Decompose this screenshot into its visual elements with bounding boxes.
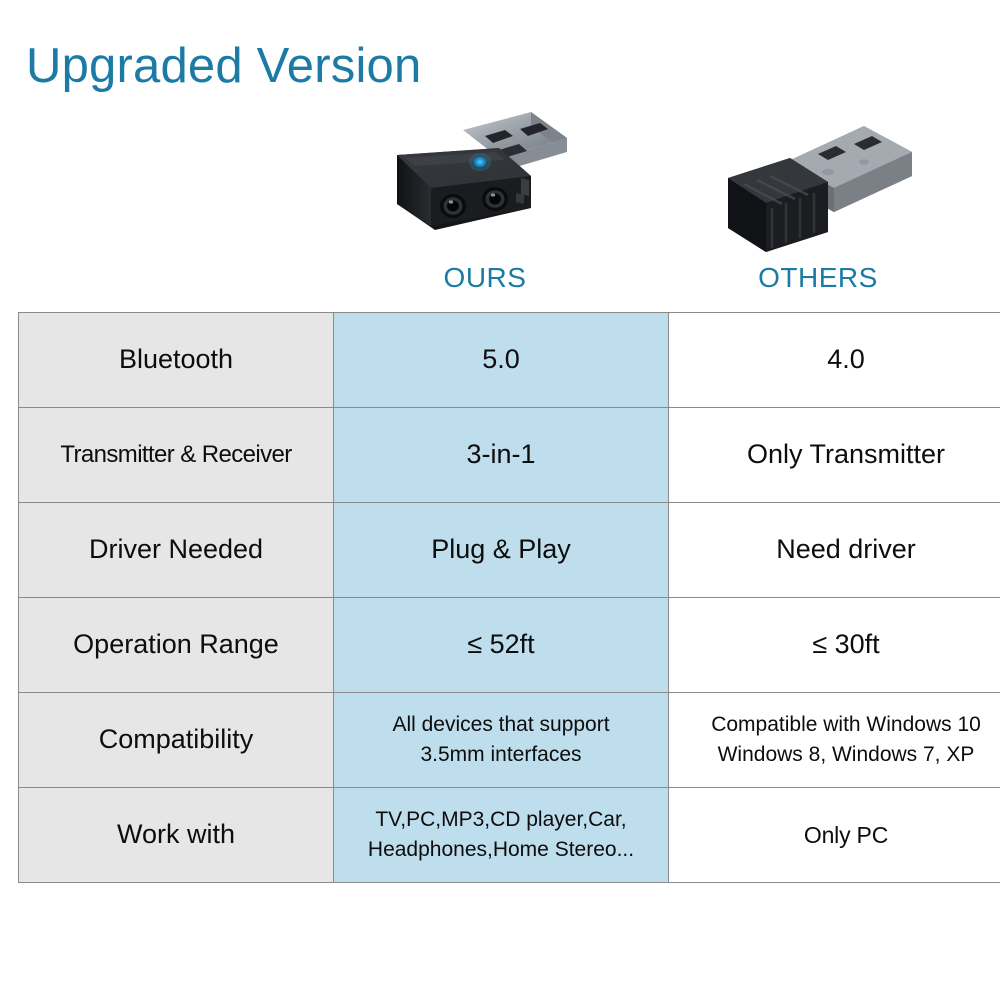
ours-value: ≤ 52ft xyxy=(340,628,662,662)
product-others: OTHERS xyxy=(668,100,968,305)
feature-label: Bluetooth xyxy=(25,343,327,377)
others-cell: Need driver xyxy=(669,503,1000,598)
others-value: ≤ 30ft xyxy=(675,628,1000,662)
product-ours: OURS xyxy=(335,100,635,305)
feature-label: Work with xyxy=(25,818,327,852)
feature-label: Driver Needed xyxy=(25,533,327,567)
feature-label: Compatibility xyxy=(25,723,327,757)
feature-cell: Driver Needed xyxy=(19,503,334,598)
ours-value-line1: All devices that support xyxy=(340,710,662,740)
others-cell: 4.0 xyxy=(669,313,1000,408)
page-title: Upgraded Version xyxy=(26,40,421,94)
others-value-line2: Windows 8, Windows 7, XP xyxy=(675,740,1000,770)
feature-label: Operation Range xyxy=(25,628,327,662)
table-row: Bluetooth 5.0 4.0 xyxy=(19,313,1000,408)
feature-cell: Transmitter & Receiver xyxy=(19,408,334,503)
ours-value: Plug & Play xyxy=(340,533,662,567)
others-cell: Only PC xyxy=(669,788,1000,883)
feature-cell: Work with xyxy=(19,788,334,883)
comparison-table: Bluetooth 5.0 4.0 Transmitter & Receiver… xyxy=(18,312,1000,883)
ours-cell: ≤ 52ft xyxy=(334,598,669,693)
feature-label: Transmitter & Receiver xyxy=(25,440,327,470)
table-row: Work with TV,PC,MP3,CD player,Car, Headp… xyxy=(19,788,1000,883)
product-showcase: OURS xyxy=(0,100,1000,305)
product-label-others: OTHERS xyxy=(668,262,968,294)
ours-value: 5.0 xyxy=(340,343,662,377)
feature-cell: Compatibility xyxy=(19,693,334,788)
others-value-line1: Compatible with Windows 10 xyxy=(675,710,1000,740)
table-row: Transmitter & Receiver 3-in-1 Only Trans… xyxy=(19,408,1000,503)
table-row: Driver Needed Plug & Play Need driver xyxy=(19,503,1000,598)
others-cell: Compatible with Windows 10 Windows 8, Wi… xyxy=(669,693,1000,788)
ours-cell: All devices that support 3.5mm interface… xyxy=(334,693,669,788)
ours-value-line2: 3.5mm interfaces xyxy=(340,740,662,770)
others-value: 4.0 xyxy=(675,343,1000,377)
others-value: Only Transmitter xyxy=(675,438,1000,472)
ours-cell: 3-in-1 xyxy=(334,408,669,503)
usb-bluetooth-adapter-icon xyxy=(335,100,635,260)
ours-cell: Plug & Play xyxy=(334,503,669,598)
ours-value-line1: TV,PC,MP3,CD player,Car, xyxy=(340,805,662,835)
table-row: Compatibility All devices that support 3… xyxy=(19,693,1000,788)
ours-value-line2: Headphones,Home Stereo... xyxy=(340,835,662,865)
ours-value: 3-in-1 xyxy=(340,438,662,472)
others-value: Need driver xyxy=(675,533,1000,567)
usb-nano-dongle-icon xyxy=(668,100,968,260)
table-row: Operation Range ≤ 52ft ≤ 30ft xyxy=(19,598,1000,693)
feature-cell: Operation Range xyxy=(19,598,334,693)
ours-cell: TV,PC,MP3,CD player,Car, Headphones,Home… xyxy=(334,788,669,883)
others-value: Only PC xyxy=(675,821,1000,850)
product-label-ours: OURS xyxy=(335,262,635,294)
others-cell: Only Transmitter xyxy=(669,408,1000,503)
others-cell: ≤ 30ft xyxy=(669,598,1000,693)
feature-cell: Bluetooth xyxy=(19,313,334,408)
ours-cell: 5.0 xyxy=(334,313,669,408)
